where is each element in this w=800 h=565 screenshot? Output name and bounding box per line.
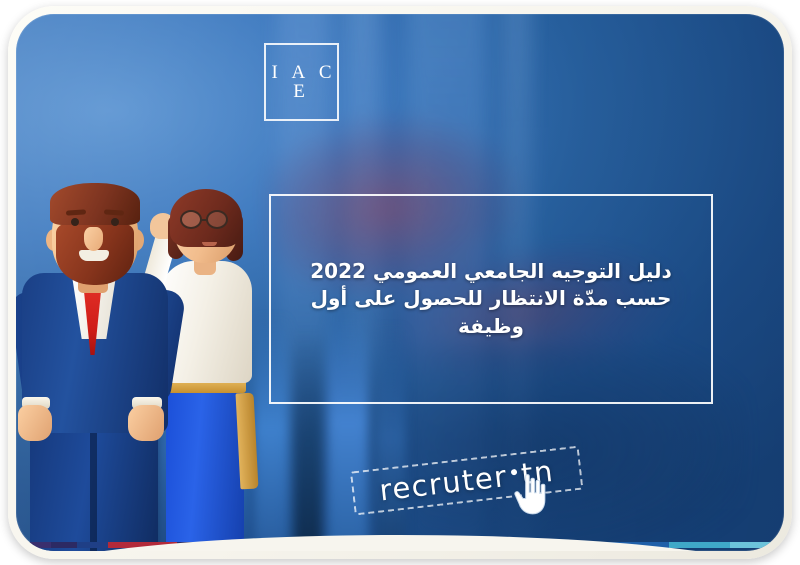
- man-right-hand: [128, 405, 164, 441]
- woman-glasses-right-lens: [206, 210, 228, 229]
- headline-box: دليل التوجيه الجامعي العمومي 2022 حسب مد…: [269, 194, 713, 404]
- wordmark-text-before-dot: recruter: [378, 459, 510, 507]
- colour-strip-segment: [669, 542, 730, 548]
- woman-glasses-bridge: [201, 219, 208, 221]
- colour-strip-segment: [16, 542, 51, 548]
- headline-text: دليل التوجيه الجامعي العمومي 2022 حسب مد…: [271, 258, 711, 341]
- iace-logo-letters: I A C E: [266, 63, 337, 101]
- headline-line-1: دليل التوجيه الجامعي العمومي 2022: [285, 258, 697, 286]
- headline-line-2: حسب مدّة الانتظار للحصول على أول وظيفة: [285, 285, 697, 340]
- man-right-eye: [111, 218, 119, 226]
- iace-logo: I A C E: [264, 43, 339, 121]
- man-left-hand: [18, 405, 52, 441]
- man-nose: [84, 227, 103, 251]
- colour-strip-segment: [730, 542, 784, 548]
- poster-page: I A C E دليل التوجيه الجامعي العمومي 202…: [0, 0, 800, 565]
- woman-mouth: [202, 242, 217, 246]
- woman-folder: [236, 393, 259, 490]
- woman-skirt: [166, 391, 244, 551]
- man-leg-split: [90, 413, 97, 551]
- man-left-eye: [71, 218, 79, 226]
- poster-card: I A C E دليل التوجيه الجامعي العمومي 202…: [16, 14, 784, 551]
- woman-glasses-left-lens: [180, 210, 202, 229]
- people-illustration: [16, 159, 284, 551]
- colour-strip-segment: [77, 542, 108, 548]
- man-mouth: [79, 250, 109, 261]
- man-hair: [50, 183, 140, 225]
- pointing-hand-cursor-icon: [512, 472, 552, 516]
- colour-strip-segment: [51, 542, 78, 548]
